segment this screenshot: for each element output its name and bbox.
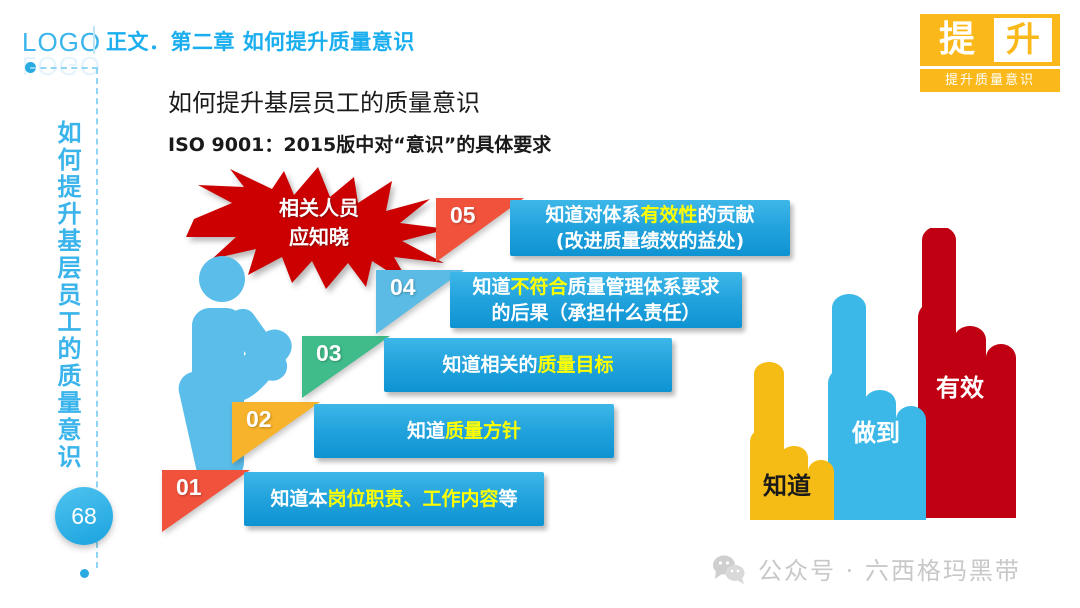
watermark-text: 公众号 · 六西格玛黑带 (758, 551, 1021, 586)
step-05-text-line1: 知道对体系有效性的贡献 (545, 202, 754, 228)
step-02[interactable]: 02 知道质量方针 (232, 402, 632, 466)
step-04-number: 04 (390, 274, 416, 301)
watermark: 公众号 · 六西格玛黑带 (712, 551, 1021, 586)
page-title: 如何提升基层员工的质量意识 (168, 83, 480, 118)
step-03-bar[interactable]: 知道相关的质量目标 (384, 338, 672, 392)
page-number-badge: 68 (55, 487, 113, 545)
step-05-text-line2: (改进质量绩效的益处) (556, 228, 744, 254)
step-04-text-line2: 的后果（承担什么责任） (491, 300, 700, 326)
hand-label-effective: 有效 (936, 368, 984, 403)
topic-badge: 提 升 提升质量意识 (920, 14, 1060, 92)
rail-vertical-title: 如何提升基层员工的质量意识 (50, 120, 84, 471)
hand-label-do: 做到 (852, 413, 900, 448)
rail-dot-bottom (80, 569, 89, 578)
starburst-line1: 相关人员 (186, 194, 452, 223)
step-01-number: 01 (176, 474, 202, 501)
badge-caption: 提升质量意识 (920, 69, 1060, 92)
starburst-line2: 应知晓 (186, 223, 452, 252)
step-04-text-line1: 知道不符合质量管理体系要求 (472, 274, 719, 300)
header-divider (93, 26, 95, 54)
badge-char-sheng: 升 (994, 18, 1052, 62)
slide-header: LOGO LOGO 正文．第二章 如何提升质量意识 (0, 0, 1080, 72)
pointing-hands-group: 知道 做到 有效 (740, 228, 1020, 528)
step-02-text: 知道质量方针 (407, 418, 521, 444)
step-02-number: 02 (246, 406, 272, 433)
step-03[interactable]: 03 知道相关的质量目标 (302, 336, 702, 400)
step-04[interactable]: 04 知道不符合质量管理体系要求 的后果（承担什么责任） (376, 270, 776, 336)
page-subtitle: ISO 9001：2015版中对“意识”的具体要求 (168, 130, 551, 157)
step-01-bar[interactable]: 知道本岗位职责、工作内容等 (244, 472, 544, 526)
rail-dashed-horizontal (30, 67, 98, 69)
step-03-text: 知道相关的质量目标 (442, 352, 613, 378)
step-03-number: 03 (316, 340, 342, 367)
wechat-icon (712, 554, 746, 584)
slide-canvas: LOGO LOGO 正文．第二章 如何提升质量意识 提 升 提升质量意识 如何提… (0, 0, 1080, 608)
header-title: 正文．第二章 如何提升质量意识 (106, 26, 415, 56)
hand-do-icon (828, 294, 926, 520)
step-05-number: 05 (450, 202, 476, 229)
hand-label-know: 知道 (763, 466, 811, 501)
step-01[interactable]: 01 知道本岗位职责、工作内容等 (162, 470, 562, 534)
badge-char-ti: 提 (928, 16, 986, 64)
starburst-text: 相关人员 应知晓 (186, 194, 452, 252)
step-01-text: 知道本岗位职责、工作内容等 (270, 486, 517, 512)
step-04-bar[interactable]: 知道不符合质量管理体系要求 的后果（承担什么责任） (450, 272, 742, 328)
step-02-bar[interactable]: 知道质量方针 (314, 404, 614, 458)
